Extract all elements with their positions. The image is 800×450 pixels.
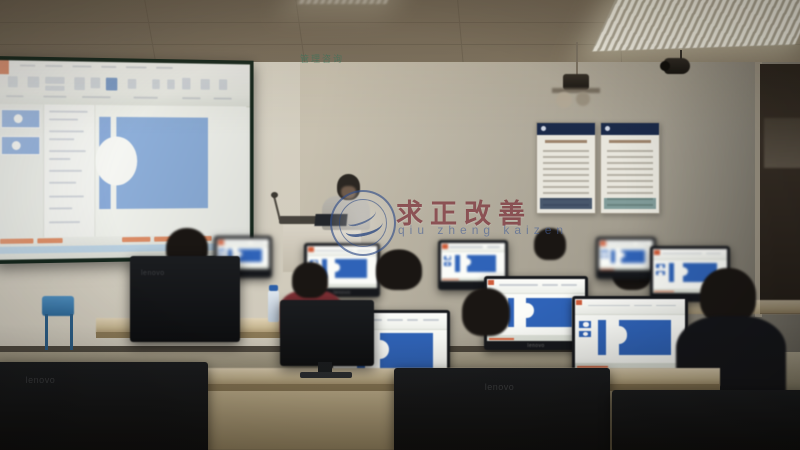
monitor-screen[interactable]: [575, 299, 685, 369]
mini-powerpoint: [599, 240, 653, 270]
water-bottle-cap: [269, 285, 278, 291]
slide-shape-circle-cutout: [95, 136, 137, 185]
slide-shape-square-with-cutout[interactable]: [116, 117, 208, 209]
ribbon-icon-find[interactable]: [219, 79, 227, 90]
wall-poster-right: [600, 122, 660, 214]
slide-outline-panel: [44, 104, 95, 237]
monitor-screen[interactable]: [599, 240, 653, 270]
poster-header: [537, 123, 595, 135]
poster-seal-icon: [541, 126, 546, 131]
ribbon-icon-newslide[interactable]: [28, 76, 40, 87]
monitor-row2-screen-c[interactable]: lenovo: [572, 296, 688, 378]
projected-powerpoint: [0, 60, 250, 260]
poster-header: [601, 123, 659, 135]
speaker-cone-left-icon: [556, 92, 572, 108]
watermark-secondary-chinese: 管理咨询: [300, 52, 344, 65]
ribbon-icon-paste[interactable]: [8, 76, 18, 87]
instructor-laptop: [314, 214, 347, 226]
student-row3-center-head-front: [376, 250, 422, 290]
blue-stool-seat[interactable]: [42, 296, 74, 316]
speaker-cone-right-icon: [576, 92, 590, 106]
slide-thumbnail-2[interactable]: [2, 137, 39, 154]
ceiling-light-panel-main: [592, 0, 800, 51]
student-row2-red-top-head: [292, 262, 328, 298]
ribbon-icon-align[interactable]: [152, 79, 159, 89]
mini-powerpoint: [575, 299, 685, 369]
monitor-row4-screen-h[interactable]: [596, 237, 656, 279]
projection-screen: [0, 56, 254, 264]
ribbon-icon-drawing[interactable]: [128, 79, 137, 89]
monitor-brand-label: lenovo: [485, 382, 515, 392]
ribbon-icon-select[interactable]: [201, 79, 210, 90]
monitor-row2-left[interactable]: lenovo: [130, 256, 240, 342]
taskbar-item-2[interactable]: [37, 238, 62, 243]
monitor-center-foot: [300, 372, 352, 378]
taskbar-item-3[interactable]: [122, 237, 150, 242]
monitor-brand-label: lenovo: [527, 343, 544, 349]
poster-body-text: [543, 148, 589, 195]
stool-leg-left: [45, 314, 48, 350]
ribbon-icon-layout[interactable]: [45, 77, 64, 84]
cctv-lens-icon: [660, 61, 670, 71]
student-front-right-head: [462, 288, 510, 336]
slide-thumbnail-panel[interactable]: [0, 104, 44, 238]
door-window: [764, 118, 800, 168]
monitor-brand-label: lenovo: [333, 290, 350, 296]
ribbon-icon-group[interactable]: [167, 80, 174, 90]
monitor-brand-label: lenovo: [141, 270, 165, 277]
slide-thumbnail-1[interactable]: [2, 110, 39, 127]
ceiling-light-panel-far: [296, 0, 393, 4]
poster-footer: [604, 198, 656, 209]
ribbon-icon-quickstyles[interactable]: [106, 78, 117, 91]
poster-title-bar: [609, 140, 651, 143]
wall-poster-left: [536, 122, 596, 214]
stool-leg-right: [70, 314, 73, 350]
poster-footer: [540, 198, 592, 209]
monitor-front-far-right-back[interactable]: [612, 390, 800, 450]
poster-seal-icon: [605, 126, 610, 131]
student-row3-right-head: [534, 228, 566, 260]
classroom-door[interactable]: [760, 64, 800, 314]
monitor-front-left-back[interactable]: lenovo: [0, 362, 208, 450]
projector-mount-rod: [576, 42, 578, 76]
monitor-front-center-back[interactable]: [280, 300, 374, 366]
monitor-front-right-back[interactable]: lenovo: [394, 368, 610, 450]
ribbon-icon-shapes[interactable]: [74, 77, 85, 90]
microphone-icon: [271, 192, 278, 198]
poster-body-text: [607, 148, 653, 195]
poster-title-bar: [545, 140, 587, 143]
ribbon-icon-arrange[interactable]: [91, 77, 101, 88]
classroom-photo: lenovo: [0, 0, 800, 450]
ribbon-icon-font[interactable]: [45, 86, 64, 91]
instructor-face: [341, 186, 356, 199]
monitor-brand-label: lenovo: [26, 375, 56, 385]
water-bottle[interactable]: [268, 290, 279, 322]
ribbon-icon-rotate[interactable]: [182, 78, 190, 90]
powerpoint-ribbon[interactable]: [0, 60, 250, 107]
slide-canvas[interactable]: [95, 105, 246, 237]
file-tab[interactable]: [0, 60, 9, 74]
taskbar-item-1[interactable]: [0, 238, 33, 243]
